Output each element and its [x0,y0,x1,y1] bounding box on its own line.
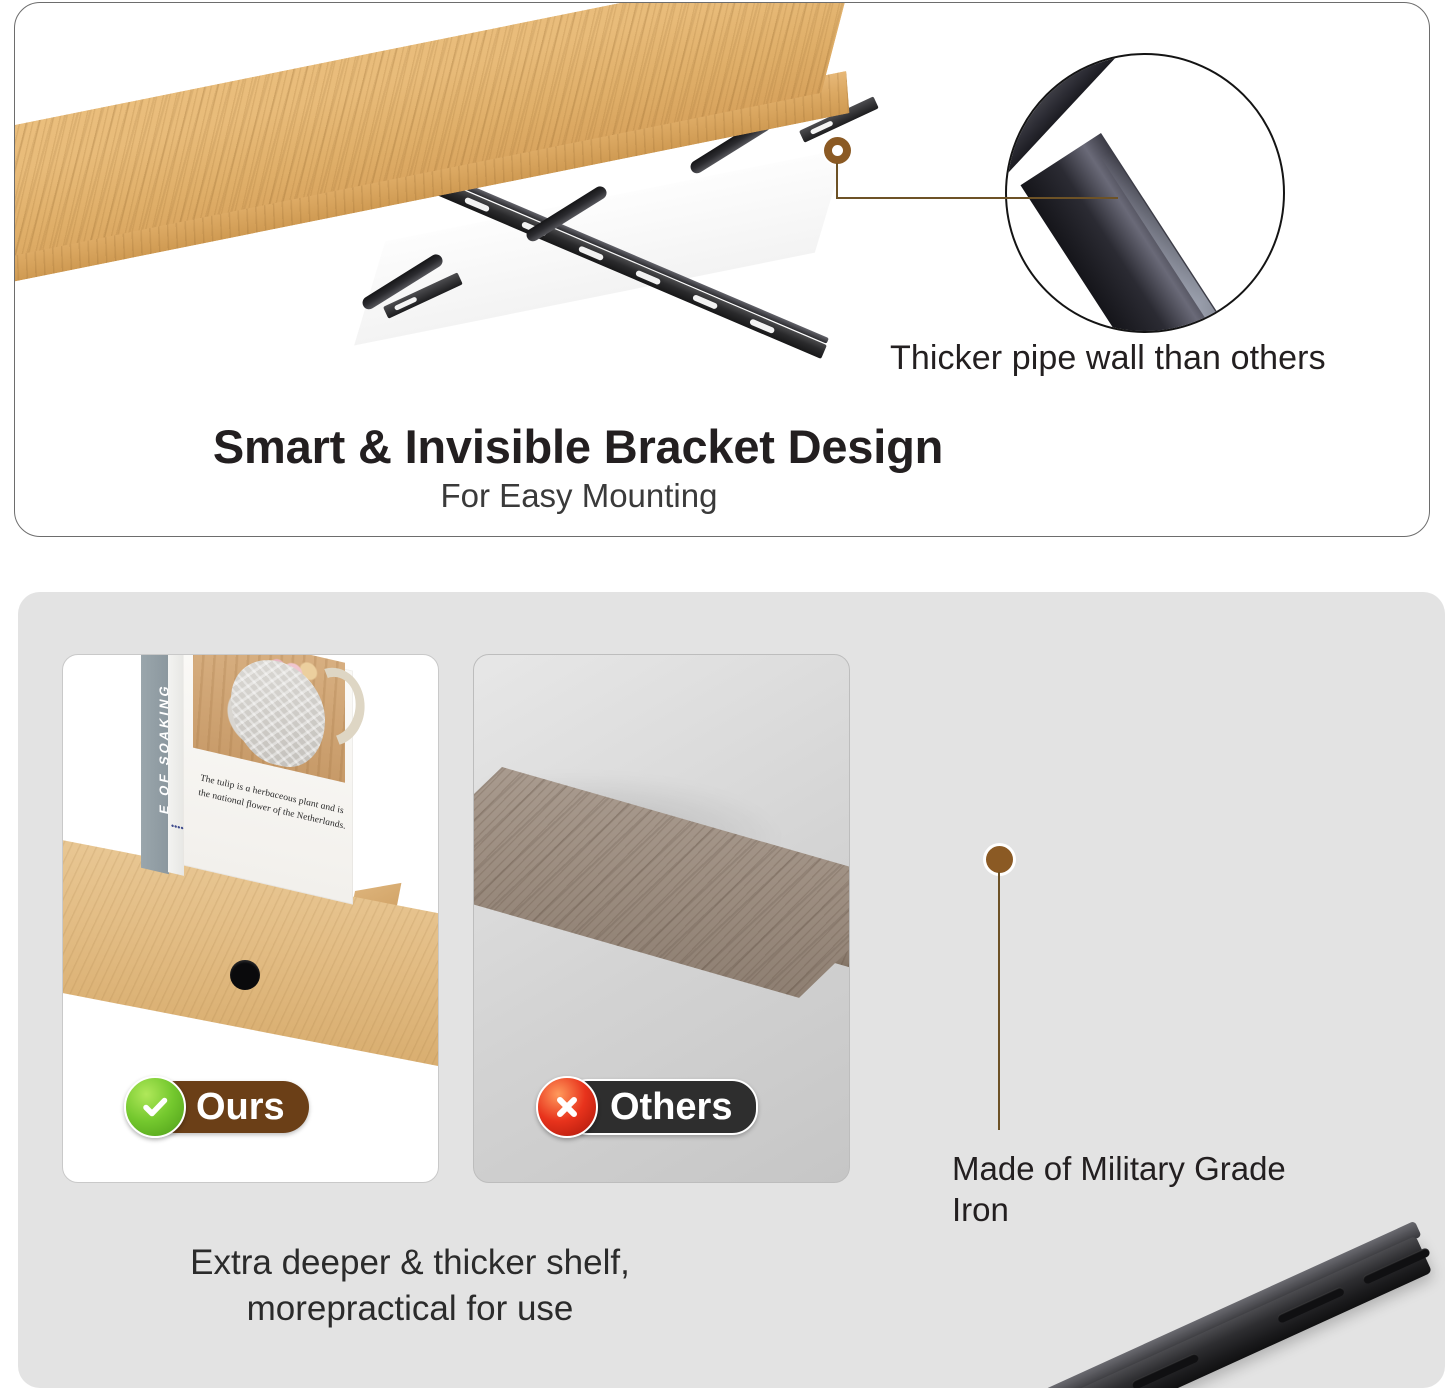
bottom-caption-line1: Extra deeper & thicker shelf, [60,1240,760,1286]
bracket-foot-slot [810,120,834,135]
military-grade-leader-line [998,872,1000,1130]
page-subtitle: For Easy Mounting [15,477,1430,515]
pipe-wall-marker-dot [824,137,851,164]
book-cover-photo [193,654,345,783]
book-spine-dots: •••• [171,822,176,829]
book-cover-quote: The tulip is a herbaceous plant and is t… [197,771,347,836]
cross-icon [536,1076,598,1138]
bottom-caption: Extra deeper & thicker shelf, morepracti… [60,1240,760,1332]
thicker-pipe-caption: Thicker pipe wall than others [890,339,1410,378]
shelf-illustration [15,3,1015,403]
bottom-caption-line2: morepractical for use [60,1286,760,1332]
check-icon [124,1076,186,1138]
page-title: Smart & Invisible Bracket Design [15,419,1430,474]
decor-book: E OF SOAKING The tulip is a herbaceous p… [141,654,353,887]
badge-others: Others [536,1076,758,1138]
book-cover: The tulip is a herbaceous plant and is t… [183,654,353,905]
pipe-wall-magnifier [1005,53,1285,333]
bracket-design-card: Thicker pipe wall than others Smart & In… [14,2,1430,537]
book-spine: E OF SOAKING [141,654,169,874]
badge-ours: Ours [124,1076,309,1138]
bracket-pipe-hole [230,960,260,990]
leader-line-horizontal [836,197,1118,199]
military-grade-marker-dot [986,846,1013,873]
military-grade-caption: Made of Military Grade Iron [952,1148,1292,1230]
leader-line-vertical [836,163,838,199]
book-gutter [168,654,184,876]
